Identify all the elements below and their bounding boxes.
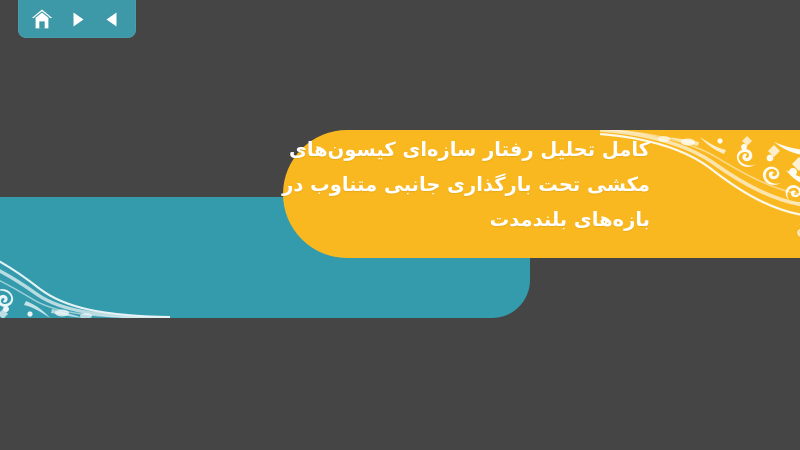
home-button[interactable]	[27, 6, 57, 32]
forward-button[interactable]	[62, 6, 92, 32]
arabesque-ornament-icon	[0, 197, 170, 318]
slide-canvas: کامل تحلیل رفتار سازه‌ای کیسون‌های مکشی …	[0, 0, 800, 450]
back-button[interactable]	[97, 6, 127, 32]
title-line-1: کامل تحلیل رفتار سازه‌ای کیسون‌های	[300, 132, 650, 167]
slide-title: کامل تحلیل رفتار سازه‌ای کیسون‌های مکشی …	[300, 131, 650, 237]
title-line-2: مکشی تحت بارگذاری جانبی متناوب در	[300, 167, 650, 202]
forward-icon	[69, 11, 86, 28]
title-line-3: بازه‌های بلندمدت	[300, 202, 650, 237]
home-icon	[31, 9, 53, 30]
back-icon	[104, 11, 121, 28]
navigation-bar	[18, 0, 136, 38]
